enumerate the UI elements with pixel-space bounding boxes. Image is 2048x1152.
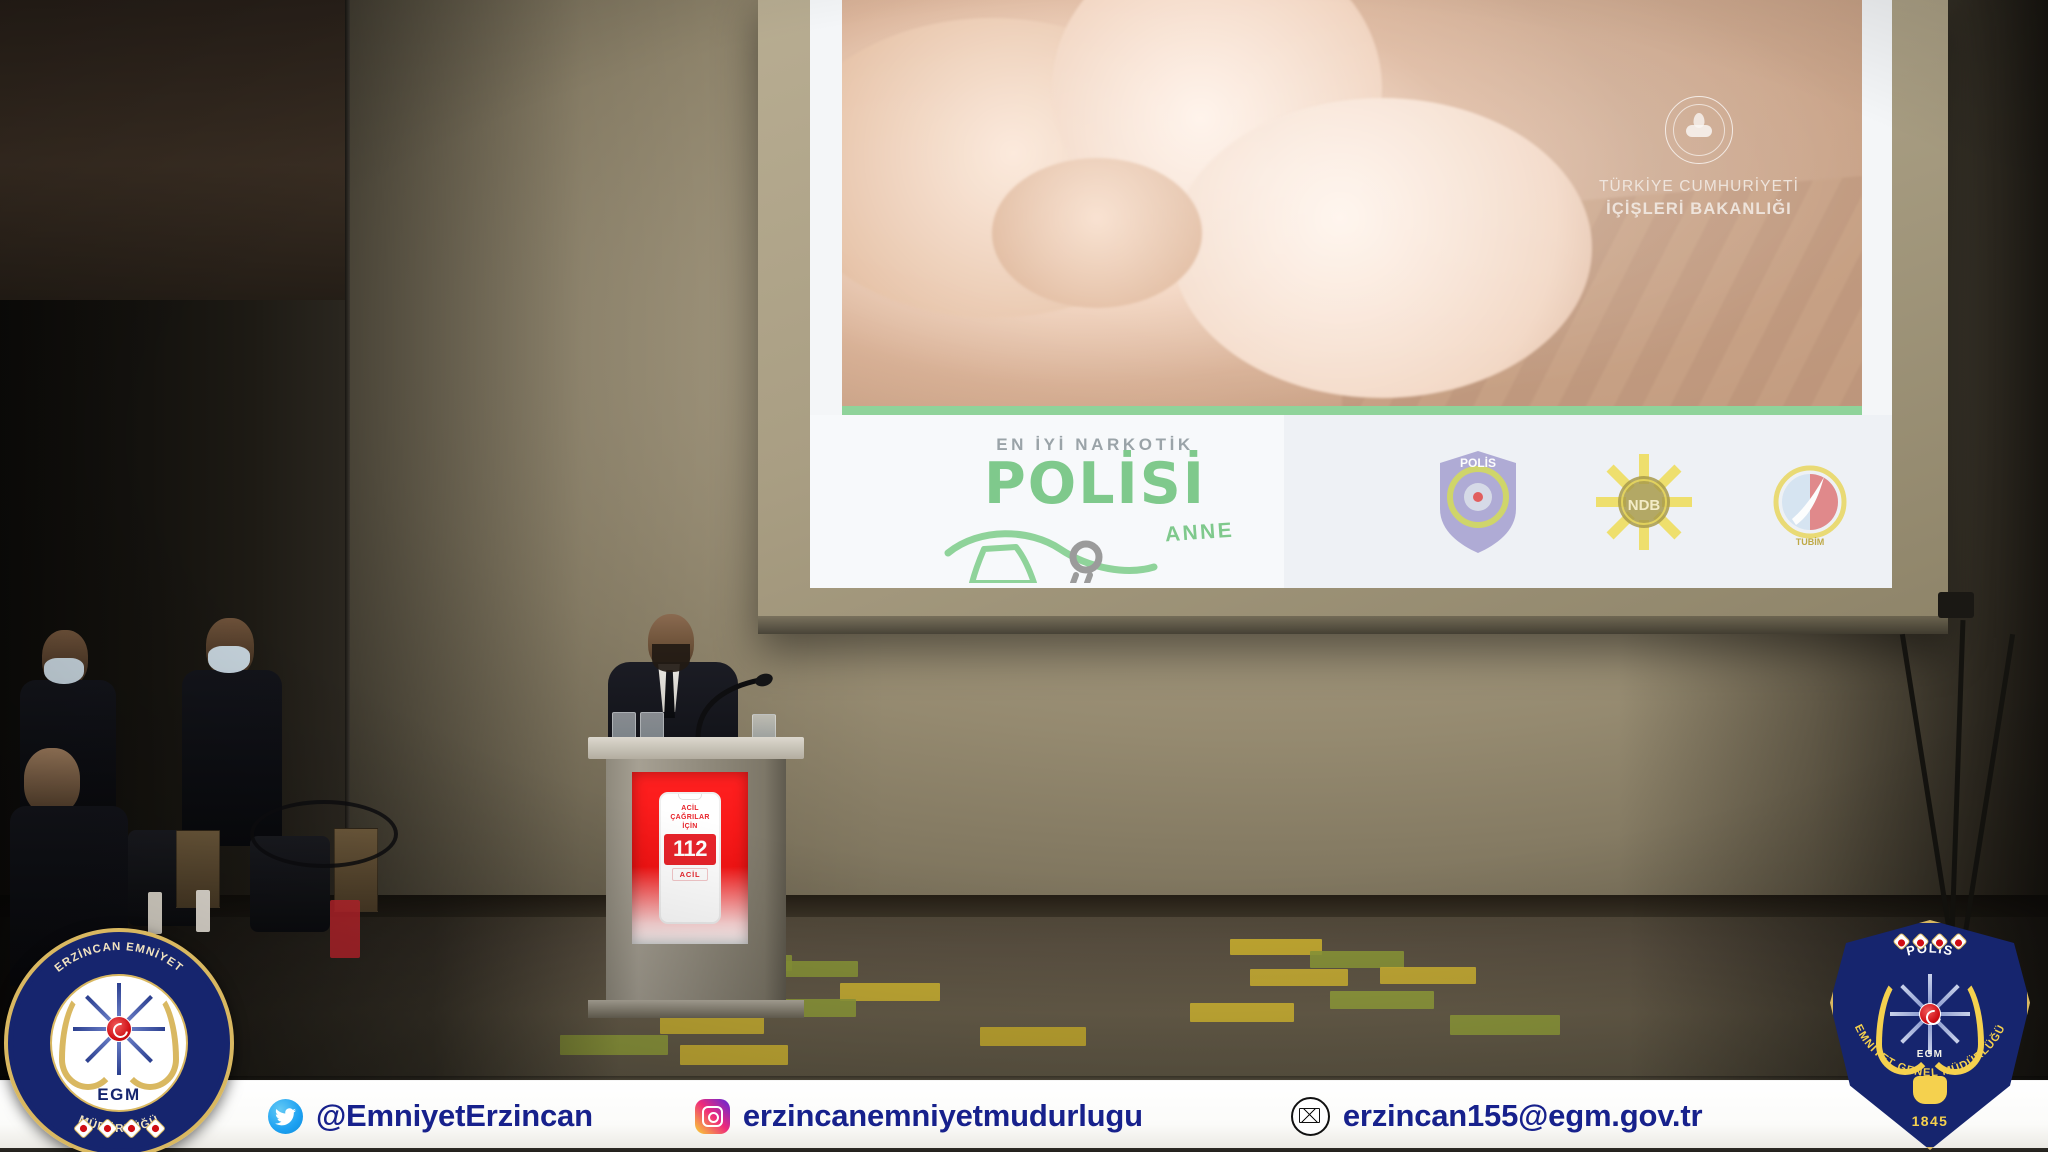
instagram-handle: erzincanemniyetmudurlugu <box>743 1098 1143 1134</box>
shield-year-label: 1845 <box>1830 1113 2030 1129</box>
badge-center-label: EGM <box>4 1085 234 1105</box>
campaign-logo: EN İYİ NARKOTİK POLİSİ ANNE <box>930 435 1260 575</box>
podium-microphone-icon <box>690 672 800 742</box>
emniyet-genel-mudurlugu-badge: POLİS EMNİYET GENEL MÜDÜRLÜĞÜ EGM 1845 <box>1830 920 2030 1150</box>
erzincan-emniyet-mudurlugu-badge: ERZİNCAN EMNİYET MÜDÜRLÜĞÜ EGM <box>4 928 234 1152</box>
phone-notch <box>678 794 702 800</box>
partner-logos: POLİS <box>1298 437 1858 567</box>
mini-star-icon <box>122 1119 140 1137</box>
shield-emblem-icon <box>1913 1076 1947 1104</box>
carpet-tile <box>1310 951 1404 968</box>
shield-center-label: EGM <box>1830 1049 2030 1060</box>
twitter-handle: @EmniyetErzincan <box>316 1098 593 1134</box>
projection-screen-frame: TÜRKİYE CUMHURİYETİ İÇİŞLERİ BAKANLIĞI E… <box>758 0 1948 634</box>
mother-and-child-line-art-icon <box>940 523 1240 583</box>
ministry-line-2: İÇİŞLERİ BAKANLIĞI <box>1584 198 1814 222</box>
carpet-tile <box>1190 1003 1294 1022</box>
email-address: erzincan155@egm.gov.tr <box>1343 1098 1703 1134</box>
mini-star-icon <box>98 1119 116 1137</box>
mini-star-icon <box>1951 934 1967 950</box>
headphone-set <box>250 800 398 868</box>
wall-wood-panel <box>0 0 345 300</box>
slide-footer: EN İYİ NARKOTİK POLİSİ ANNE <box>810 415 1892 588</box>
display-line-1: ACİL <box>681 805 699 812</box>
phone-mockup: ACİL ÇAĞRILAR İÇİN 112 ACİL <box>659 792 721 924</box>
tubim-logo: TUBİM <box>1762 447 1858 557</box>
speaker-beard <box>652 644 690 672</box>
banner-bottom-strip <box>0 1148 2048 1152</box>
display-line-3: İÇİN <box>682 823 697 830</box>
mini-star-icon <box>1932 934 1948 950</box>
emergency-badge: ACİL <box>672 868 709 881</box>
podium-emergency-display: ACİL ÇAĞRILAR İÇİN 112 ACİL <box>632 772 748 944</box>
mini-star-icon <box>1913 934 1929 950</box>
ministry-line-1: TÜRKİYE CUMHURİYETİ <box>1584 176 1814 198</box>
polis-emniyet-genel-mudurlugu-logo: POLİS <box>1430 447 1526 557</box>
svg-text:TUBİM: TUBİM <box>1796 537 1825 547</box>
mini-star-icon <box>1894 934 1910 950</box>
mini-star-icon <box>146 1119 164 1137</box>
screenshot-stage: TÜRKİYE CUMHURİYETİ İÇİŞLERİ BAKANLIĞI E… <box>0 0 2048 1152</box>
carpet-tile <box>1330 991 1434 1009</box>
carpet-tile <box>1450 1015 1560 1035</box>
svg-text:ERZİNCAN EMNİYET: ERZİNCAN EMNİYET <box>53 941 186 975</box>
contact-instagram[interactable]: erzincanemniyetmudurlugu <box>695 1098 1143 1134</box>
slide-photo-baby-hands: TÜRKİYE CUMHURİYETİ İÇİŞLERİ BAKANLIĞI <box>842 0 1862 406</box>
narkotik-suclarla-mucadele-ndb-logo: NDB <box>1596 447 1692 557</box>
mini-star-icon <box>74 1119 92 1137</box>
ministry-logo-block: TÜRKİYE CUMHURİYETİ İÇİŞLERİ BAKANLIĞI <box>1584 96 1814 222</box>
slide-green-divider <box>842 406 1862 415</box>
water-glass <box>640 712 664 740</box>
emergency-number: 112 <box>664 834 716 865</box>
presentation-slide: TÜRKİYE CUMHURİYETİ İÇİŞLERİ BAKANLIĞI E… <box>810 0 1892 588</box>
svg-text:NDB: NDB <box>1628 497 1661 514</box>
carpet-tile <box>1230 939 1322 955</box>
tripod-head <box>1938 592 1974 618</box>
turkiye-state-emblem-icon <box>1665 96 1733 164</box>
contact-email[interactable]: erzincan155@egm.gov.tr <box>1291 1097 1703 1136</box>
police-star-with-crescent-icon <box>73 983 165 1075</box>
carpet-tile <box>980 1027 1086 1046</box>
contact-twitter[interactable]: @EmniyetErzincan <box>268 1098 593 1134</box>
badge-arc-top-text: ERZİNCAN EMNİYET <box>53 941 186 975</box>
svg-text:POLİS: POLİS <box>1460 455 1496 470</box>
carpet-tile <box>680 1045 788 1065</box>
police-star-with-crescent-icon <box>1890 974 1970 1054</box>
contact-banner: @EmniyetErzincan erzincanemniyetmudurlug… <box>0 1080 2048 1152</box>
water-bottle <box>196 890 210 932</box>
instagram-icon <box>695 1099 730 1134</box>
contact-list: @EmniyetErzincan erzincanemniyetmudurlug… <box>268 1080 1828 1152</box>
podium-base <box>588 1000 804 1018</box>
podium-top-surface <box>588 737 804 759</box>
desk-flag <box>330 900 360 958</box>
shield-mini-stars <box>1830 936 2030 947</box>
badge-mini-stars <box>4 1122 234 1135</box>
water-glass <box>612 712 636 740</box>
carpet-tile <box>1250 969 1348 986</box>
campaign-main-text: POLİSİ <box>930 457 1260 511</box>
display-line-2: ÇAĞRILAR <box>670 814 709 821</box>
twitter-icon <box>268 1099 303 1134</box>
mail-icon <box>1291 1097 1330 1136</box>
carpet-tile <box>1380 967 1476 984</box>
